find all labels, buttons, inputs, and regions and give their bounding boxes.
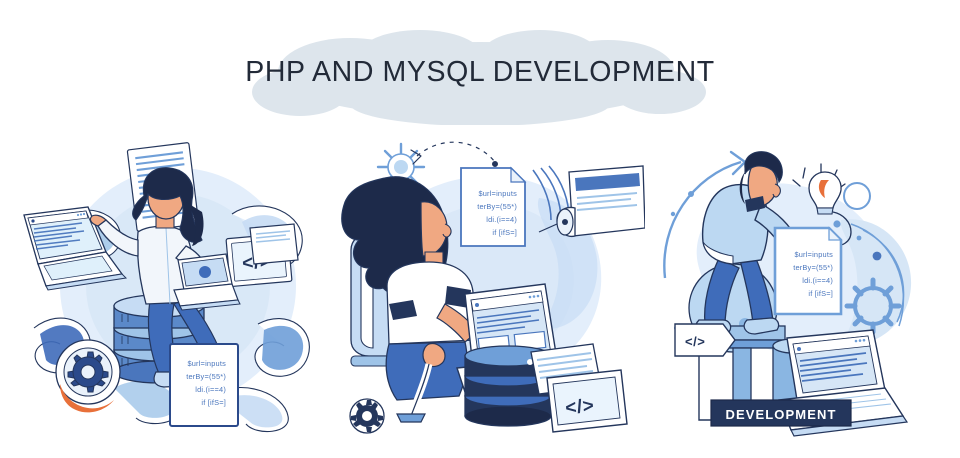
code-line-1: $url=inputs	[187, 359, 226, 368]
code-card: $url=inputs terBy=(55*) ldi.(i==4) if [i…	[775, 228, 841, 314]
code-glyph-label: </>	[564, 395, 595, 419]
code-line-4: if [ifS=]	[201, 398, 226, 407]
illustration-canvas: PHP AND MYSQL DEVELOPMENT	[0, 0, 960, 458]
code-line-2: terBy=(55*)	[186, 372, 226, 381]
development-banner-label: DEVELOPMENT	[725, 407, 836, 422]
dashed-arc-arrow	[411, 142, 497, 166]
code-line-3: ldi.(i==4)	[195, 385, 226, 394]
code-line-2: terBy=(55*)	[793, 263, 833, 272]
code-note: $url=inputs terBy=(55*) ldi.(i==4) if [i…	[461, 168, 525, 246]
illustration-panel-3: $url=inputs terBy=(55*) ldi.(i==4) if [i…	[645, 128, 960, 438]
code-line-3: ldi.(i==4)	[486, 215, 517, 224]
code-line-4: if [ifS=]	[492, 228, 517, 237]
page-title: PHP AND MYSQL DEVELOPMENT	[0, 20, 960, 125]
gear-icon	[56, 340, 120, 412]
code-line-3: ldi.(i==4)	[802, 276, 833, 285]
code-line-4: if [ifS=]	[808, 289, 833, 298]
development-banner: DEVELOPMENT	[711, 400, 851, 426]
code-clipboard: $url=inputs terBy=(55*) ldi.(i==4) if [i…	[170, 344, 238, 426]
code-line-1: $url=inputs	[478, 189, 517, 198]
illustration-panel-1: </>	[10, 128, 330, 438]
gear-icon	[350, 399, 384, 433]
code-line-2: terBy=(55*)	[477, 202, 517, 211]
code-glyph-label: </>	[685, 334, 705, 349]
illustration-panel-2: $url=inputs terBy=(55*) ldi.(i==4) if [i…	[325, 128, 645, 438]
title-block: PHP AND MYSQL DEVELOPMENT	[0, 20, 960, 125]
circle-outline	[844, 183, 870, 209]
code-line-1: $url=inputs	[794, 250, 833, 259]
